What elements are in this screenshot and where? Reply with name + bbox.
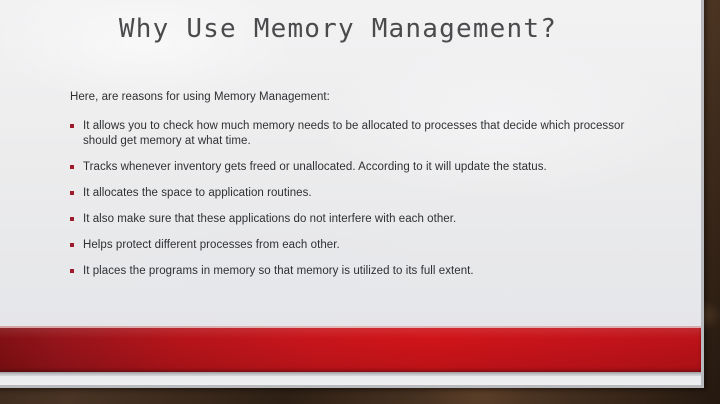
bullet-list: It allows you to check how much memory n…: [70, 119, 640, 279]
footer-red-band: [0, 328, 701, 372]
list-item: Helps protect different processes from e…: [70, 238, 640, 253]
bullet-marker-icon: [70, 191, 74, 195]
bullet-marker-icon: [70, 269, 74, 273]
list-item: It places the programs in memory so that…: [70, 264, 640, 279]
bullet-marker-icon: [70, 243, 74, 247]
list-item-text: It allows you to check how much memory n…: [83, 120, 624, 147]
list-item-text: It also make sure that these application…: [83, 213, 456, 225]
list-item-text: It allocates the space to application ro…: [83, 187, 312, 199]
bullet-marker-icon: [70, 217, 74, 221]
list-item-text: Tracks whenever inventory gets freed or …: [83, 161, 547, 173]
list-item: It allocates the space to application ro…: [70, 186, 640, 201]
slide-body: Here, are reasons for using Memory Manag…: [70, 90, 640, 279]
list-item: Tracks whenever inventory gets freed or …: [70, 160, 640, 175]
slide-content-area: Why Use Memory Management? Here, are rea…: [0, 0, 701, 385]
slide-viewer: Why Use Memory Management? Here, are rea…: [0, 0, 720, 404]
list-item-text: It places the programs in memory so that…: [83, 265, 474, 277]
presentation-slide: Why Use Memory Management? Here, are rea…: [0, 0, 704, 388]
list-item-text: Helps protect different processes from e…: [83, 239, 340, 251]
list-item: It also make sure that these application…: [70, 212, 640, 227]
bullet-marker-icon: [70, 124, 74, 128]
list-item: It allows you to check how much memory n…: [70, 119, 640, 149]
slide-title: Why Use Memory Management?: [0, 14, 688, 44]
slide-footer-strip: [0, 376, 701, 385]
bullet-marker-icon: [70, 165, 74, 169]
intro-text: Here, are reasons for using Memory Manag…: [70, 90, 640, 104]
